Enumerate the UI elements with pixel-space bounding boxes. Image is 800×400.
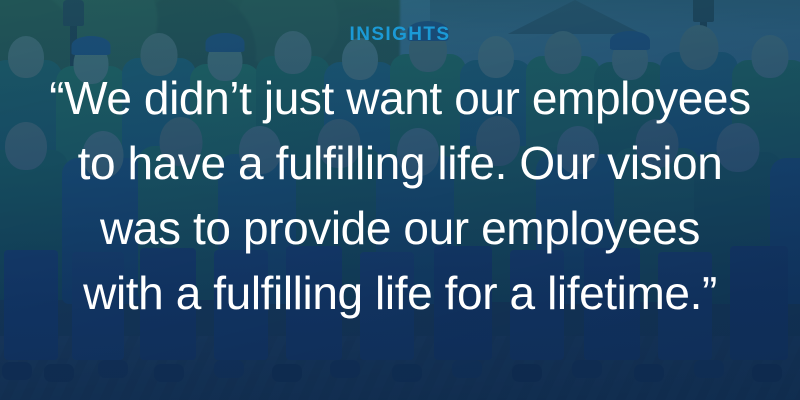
- quote-line-4: with a fulfilling life for a lifetime.”: [5, 261, 795, 326]
- eyebrow-label: INSIGHTS: [350, 25, 451, 44]
- quote-text: “We didn’t just want our employees to ha…: [5, 66, 795, 326]
- card-content: INSIGHTS “We didn’t just want our employ…: [0, 0, 800, 400]
- quote-line-3: was to provide our employees: [5, 196, 795, 261]
- quote-line-2: to have a fulfilling life. Our vision: [5, 131, 795, 196]
- insights-quote-card: INSIGHTS “We didn’t just want our employ…: [0, 0, 800, 400]
- quote-line-1: “We didn’t just want our employees: [5, 66, 795, 131]
